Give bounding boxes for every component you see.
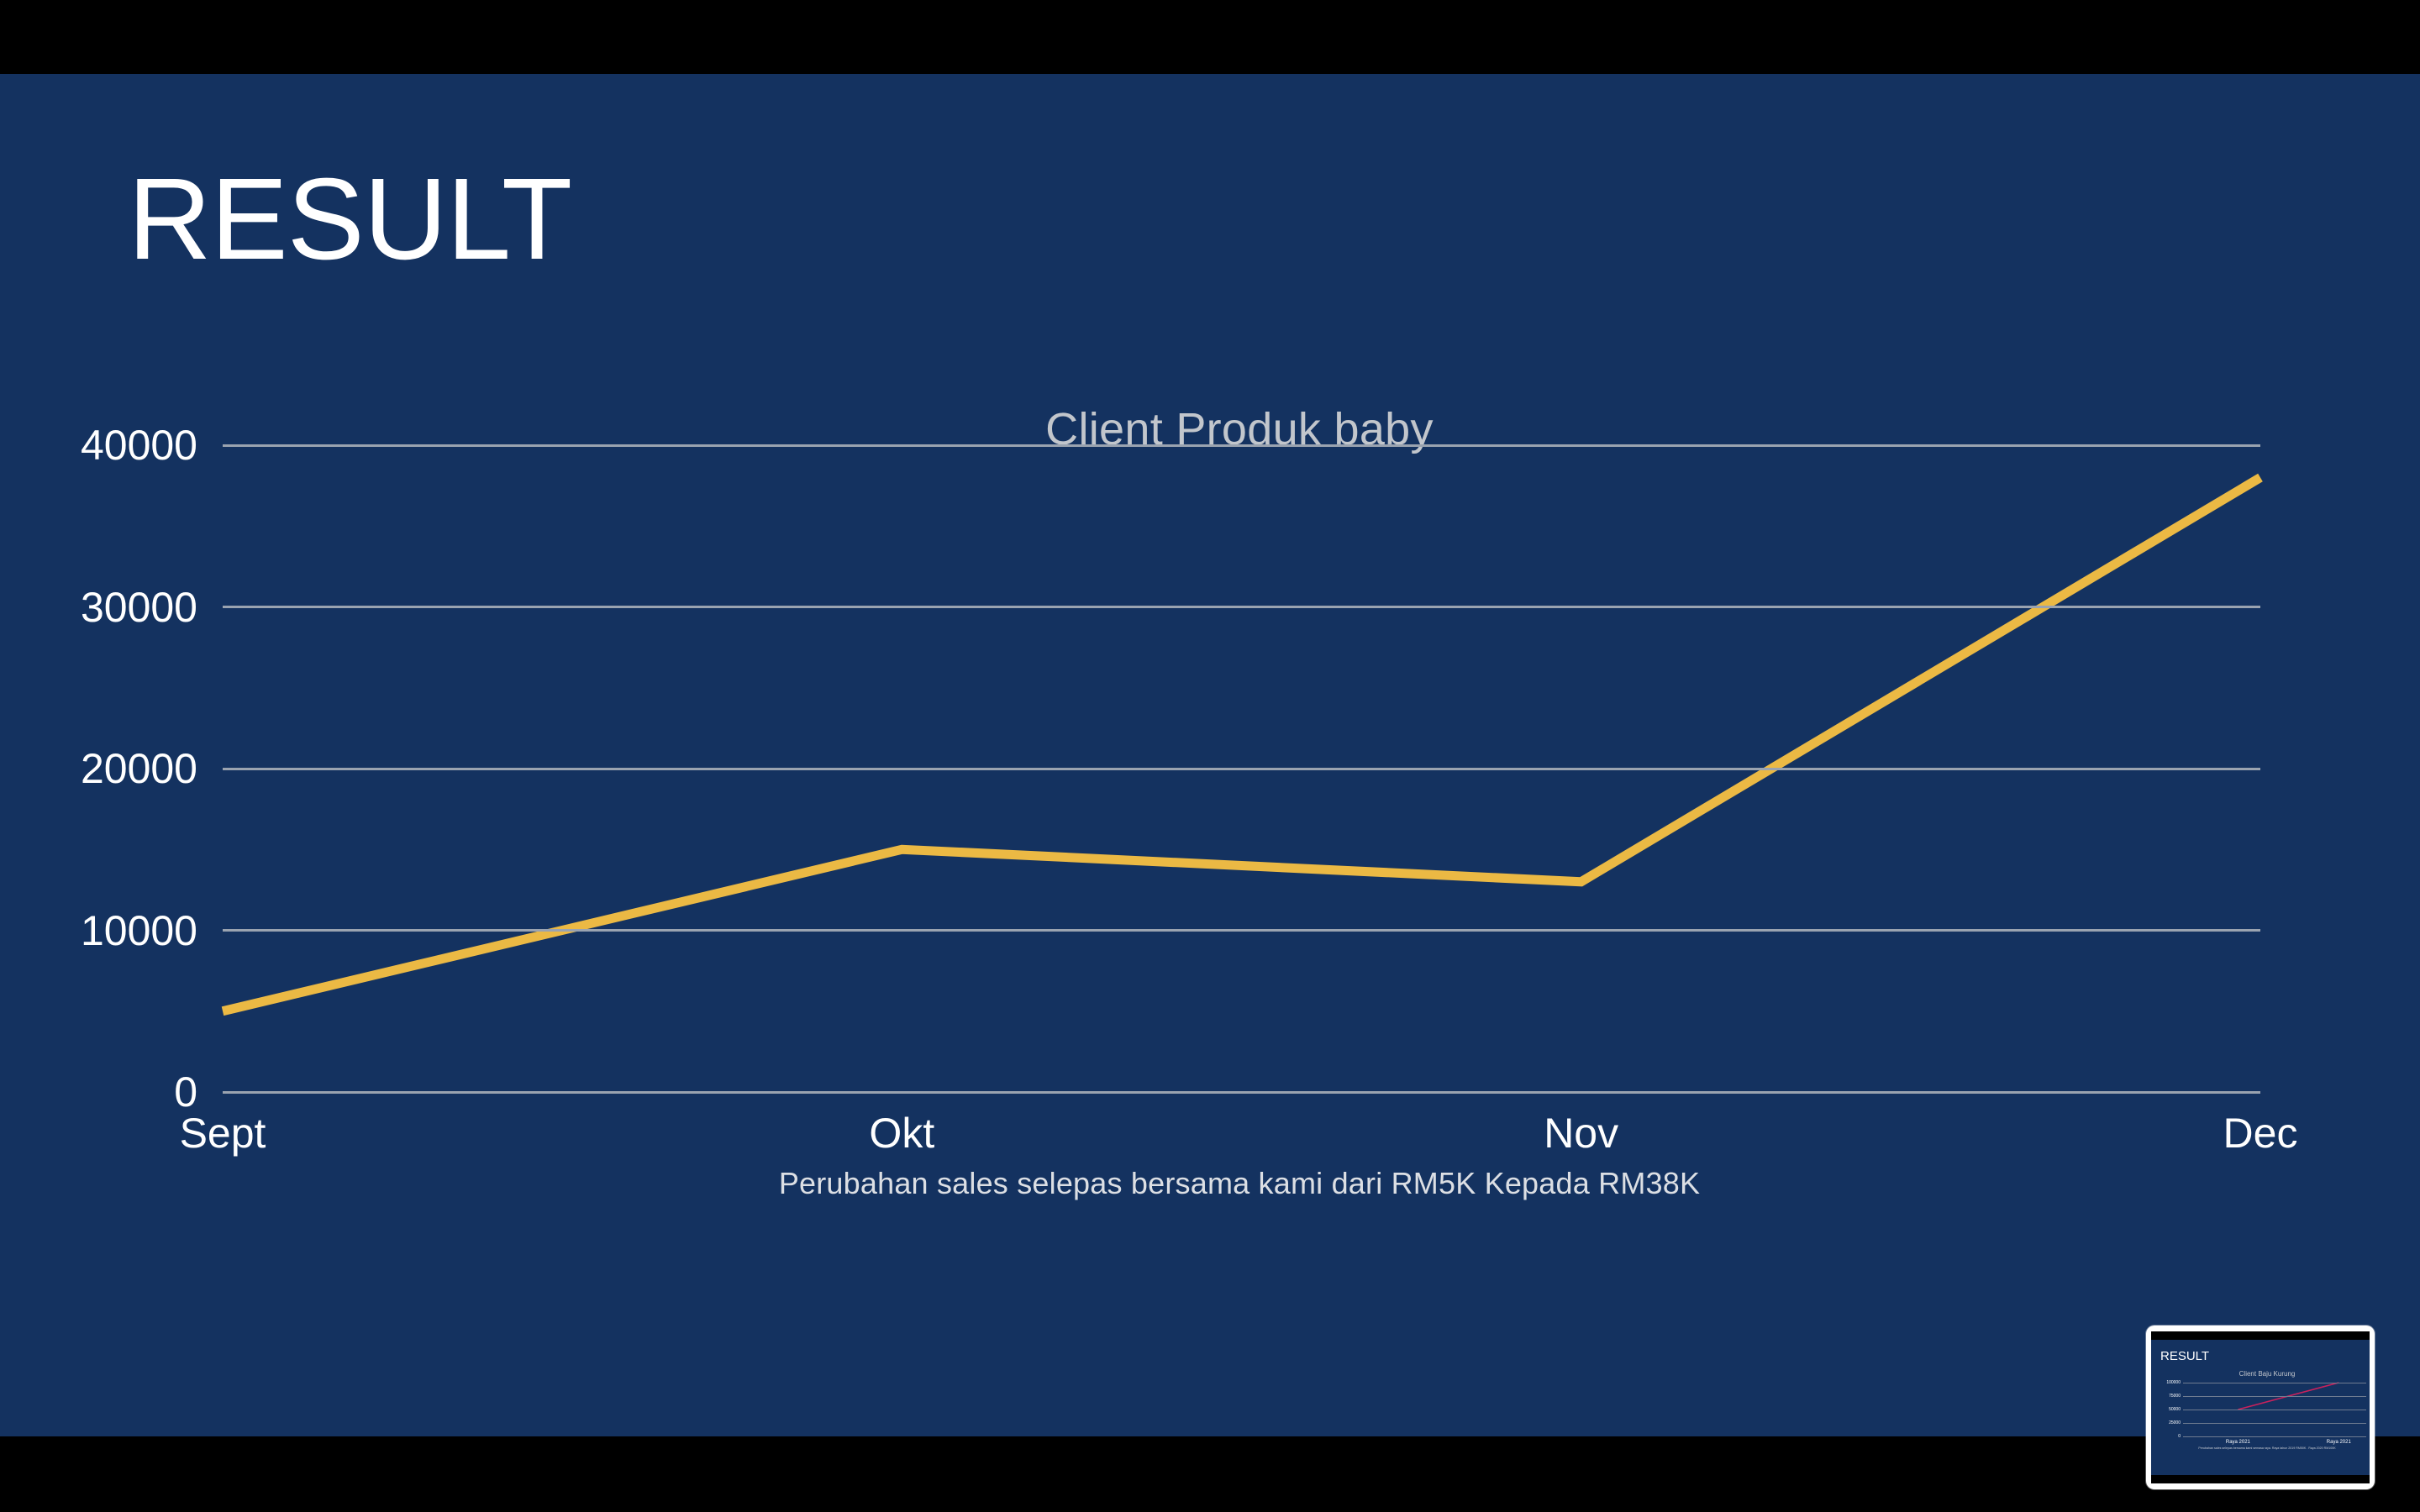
x-axis-tick-label: Dec <box>2223 1109 2298 1158</box>
y-axis-tick-label: 20000 <box>81 744 197 793</box>
thumbnail-screen: RESULT Client Baju Kurung 02500050000750… <box>2151 1331 2370 1483</box>
thumbnail-y-axis-tick-label: 25000 <box>2169 1420 2181 1425</box>
gridline <box>223 768 2260 770</box>
chart-caption: Perubahan sales selepas bersama kami dar… <box>0 1166 2420 1201</box>
chart-plot-area: 010000200003000040000SeptOktNovDec <box>223 445 2260 1092</box>
gridline <box>223 1091 2260 1094</box>
thumbnail-gridline <box>2183 1410 2366 1410</box>
slide-canvas: RESULT Client Produk baby 01000020000300… <box>0 74 2420 1436</box>
thumbnail-x-axis-tick-label: Raya 2021 <box>2226 1440 2250 1445</box>
x-axis-tick-label: Okt <box>869 1109 934 1158</box>
presentation-stage: RESULT Client Produk baby 01000020000300… <box>0 0 2420 1512</box>
thumbnail-gridline <box>2183 1396 2366 1397</box>
gridline <box>223 444 2260 447</box>
thumbnail-chart-title: Client Baju Kurung <box>2151 1370 2370 1378</box>
slide-thumbnail-preview[interactable]: RESULT Client Baju Kurung 02500050000750… <box>2146 1326 2375 1489</box>
thumbnail-x-axis-tick-label: Raya 2021 <box>2327 1440 2351 1445</box>
letterbox-bar-top <box>0 0 2420 74</box>
thumbnail-y-axis-tick-label: 75000 <box>2169 1394 2181 1399</box>
thumbnail-chart-caption-text: Perubahan sales selepas bersama kami sem… <box>2198 1446 2335 1450</box>
thumbnail-page-title: RESULT <box>2160 1350 2209 1362</box>
thumbnail-gridline <box>2183 1436 2366 1437</box>
thumbnail-slide: RESULT Client Baju Kurung 02500050000750… <box>2151 1340 2370 1475</box>
thumbnail-y-axis-tick-label: 50000 <box>2169 1407 2181 1412</box>
letterbox-bar-bottom <box>0 1436 2420 1512</box>
thumbnail-y-axis-tick-label: 100000 <box>2166 1380 2181 1385</box>
thumbnail-plot-area: 0250005000075000100000Raya 2021Raya 2021 <box>2183 1383 2366 1436</box>
gridline <box>223 929 2260 932</box>
y-axis-tick-label: 40000 <box>81 421 197 470</box>
thumbnail-gridline <box>2183 1383 2366 1383</box>
thumbnail-chart-caption: Perubahan sales selepas bersama kami sem… <box>2151 1446 2370 1450</box>
thumbnail-chart-title-text: Client Baju Kurung <box>2239 1370 2296 1378</box>
y-axis-tick-label: 10000 <box>81 906 197 955</box>
thumbnail-gridline <box>2183 1423 2366 1424</box>
chart-caption-text: Perubahan sales selepas bersama kami dar… <box>779 1166 1700 1200</box>
line-chart: Client Produk baby 010000200003000040000… <box>0 74 2420 1436</box>
x-axis-tick-label: Nov <box>1544 1109 1618 1158</box>
gridline <box>223 606 2260 608</box>
y-axis-tick-label: 30000 <box>81 583 197 632</box>
thumbnail-y-axis-tick-label: 0 <box>2178 1434 2181 1439</box>
x-axis-tick-label: Sept <box>180 1109 266 1158</box>
